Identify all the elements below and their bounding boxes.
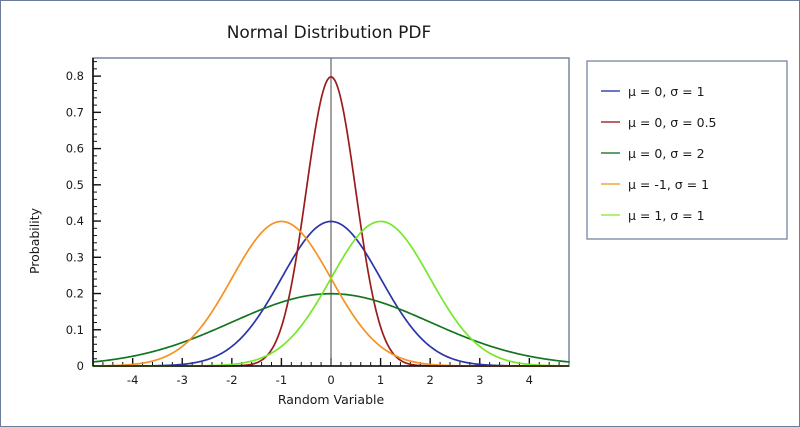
x-tick-label: 4 [526,373,533,387]
chart-title: Normal Distribution PDF [227,23,432,43]
y-tick-label: 0.2 [66,287,84,301]
legend-label-4: μ = 1, σ = 1 [628,208,705,223]
x-tick-label: 2 [427,373,434,387]
y-axis-title: Probability [27,207,42,274]
y-tick-label: 0.8 [66,69,84,83]
y-axis-tick-labels: 00.10.20.30.40.50.60.70.8 [66,69,84,373]
x-tick-label: -1 [276,373,287,387]
y-tick-label: 0.6 [66,142,84,156]
x-axis-title: Random Variable [278,392,385,407]
legend-label-1: μ = 0, σ = 0.5 [628,115,717,130]
x-axis-tick-labels: -4-3-2-101234 [127,373,533,387]
x-tick-label: 0 [327,373,334,387]
x-tick-label: -3 [177,373,188,387]
x-tick-label: 3 [476,373,483,387]
x-tick-label: -2 [226,373,237,387]
x-tick-label: -4 [127,373,138,387]
y-tick-label: 0.5 [66,178,84,192]
normal-distribution-chart: Normal Distribution PDF -4-3-2-101234 00… [1,1,800,427]
y-tick-label: 0.4 [66,214,84,228]
y-tick-label: 0.1 [66,323,84,337]
x-tick-label: 1 [377,373,384,387]
y-tick-label: 0.7 [66,105,84,119]
y-tick-label: 0.3 [66,250,84,264]
legend-label-3: μ = -1, σ = 1 [628,177,709,192]
legend-label-0: μ = 0, σ = 1 [628,84,705,99]
legend-label-2: μ = 0, σ = 2 [628,146,705,161]
y-tick-label: 0 [77,359,84,373]
chart-page: Normal Distribution PDF -4-3-2-101234 00… [0,0,800,427]
